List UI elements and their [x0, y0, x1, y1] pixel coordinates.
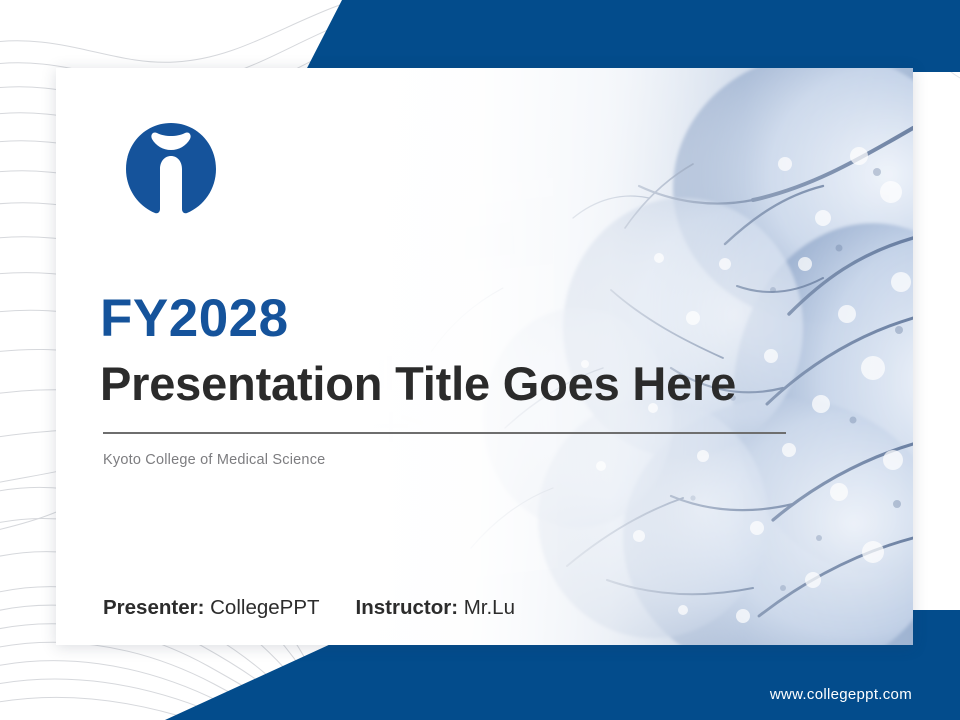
instructor-value: Mr.Lu	[464, 596, 515, 619]
fiscal-year-label: FY2028	[100, 292, 840, 346]
presenter-value: CollegePPT	[210, 596, 319, 619]
presenter-label: Presenter:	[103, 596, 204, 619]
instructor-label: Instructor:	[356, 596, 459, 619]
organization-name: Kyoto College of Medical Science	[103, 452, 840, 468]
kyoto-college-logo-icon	[119, 117, 223, 221]
title-divider-line	[103, 432, 786, 434]
footer-website-url[interactable]: www.collegeppt.com	[770, 686, 912, 703]
page-title: Presentation Title Goes Here	[100, 358, 840, 411]
presentation-slide: FY2028 Presentation Title Goes Here Kyot…	[0, 0, 960, 720]
presenter-credit: Presenter: CollegePPT	[103, 596, 320, 620]
title-text-block: FY2028 Presentation Title Goes Here Kyot…	[100, 292, 840, 468]
slide-content-card: FY2028 Presentation Title Goes Here Kyot…	[56, 68, 913, 645]
credits-row: Presenter: CollegePPT Instructor: Mr.Lu	[103, 596, 515, 620]
instructor-credit: Instructor: Mr.Lu	[356, 596, 515, 620]
